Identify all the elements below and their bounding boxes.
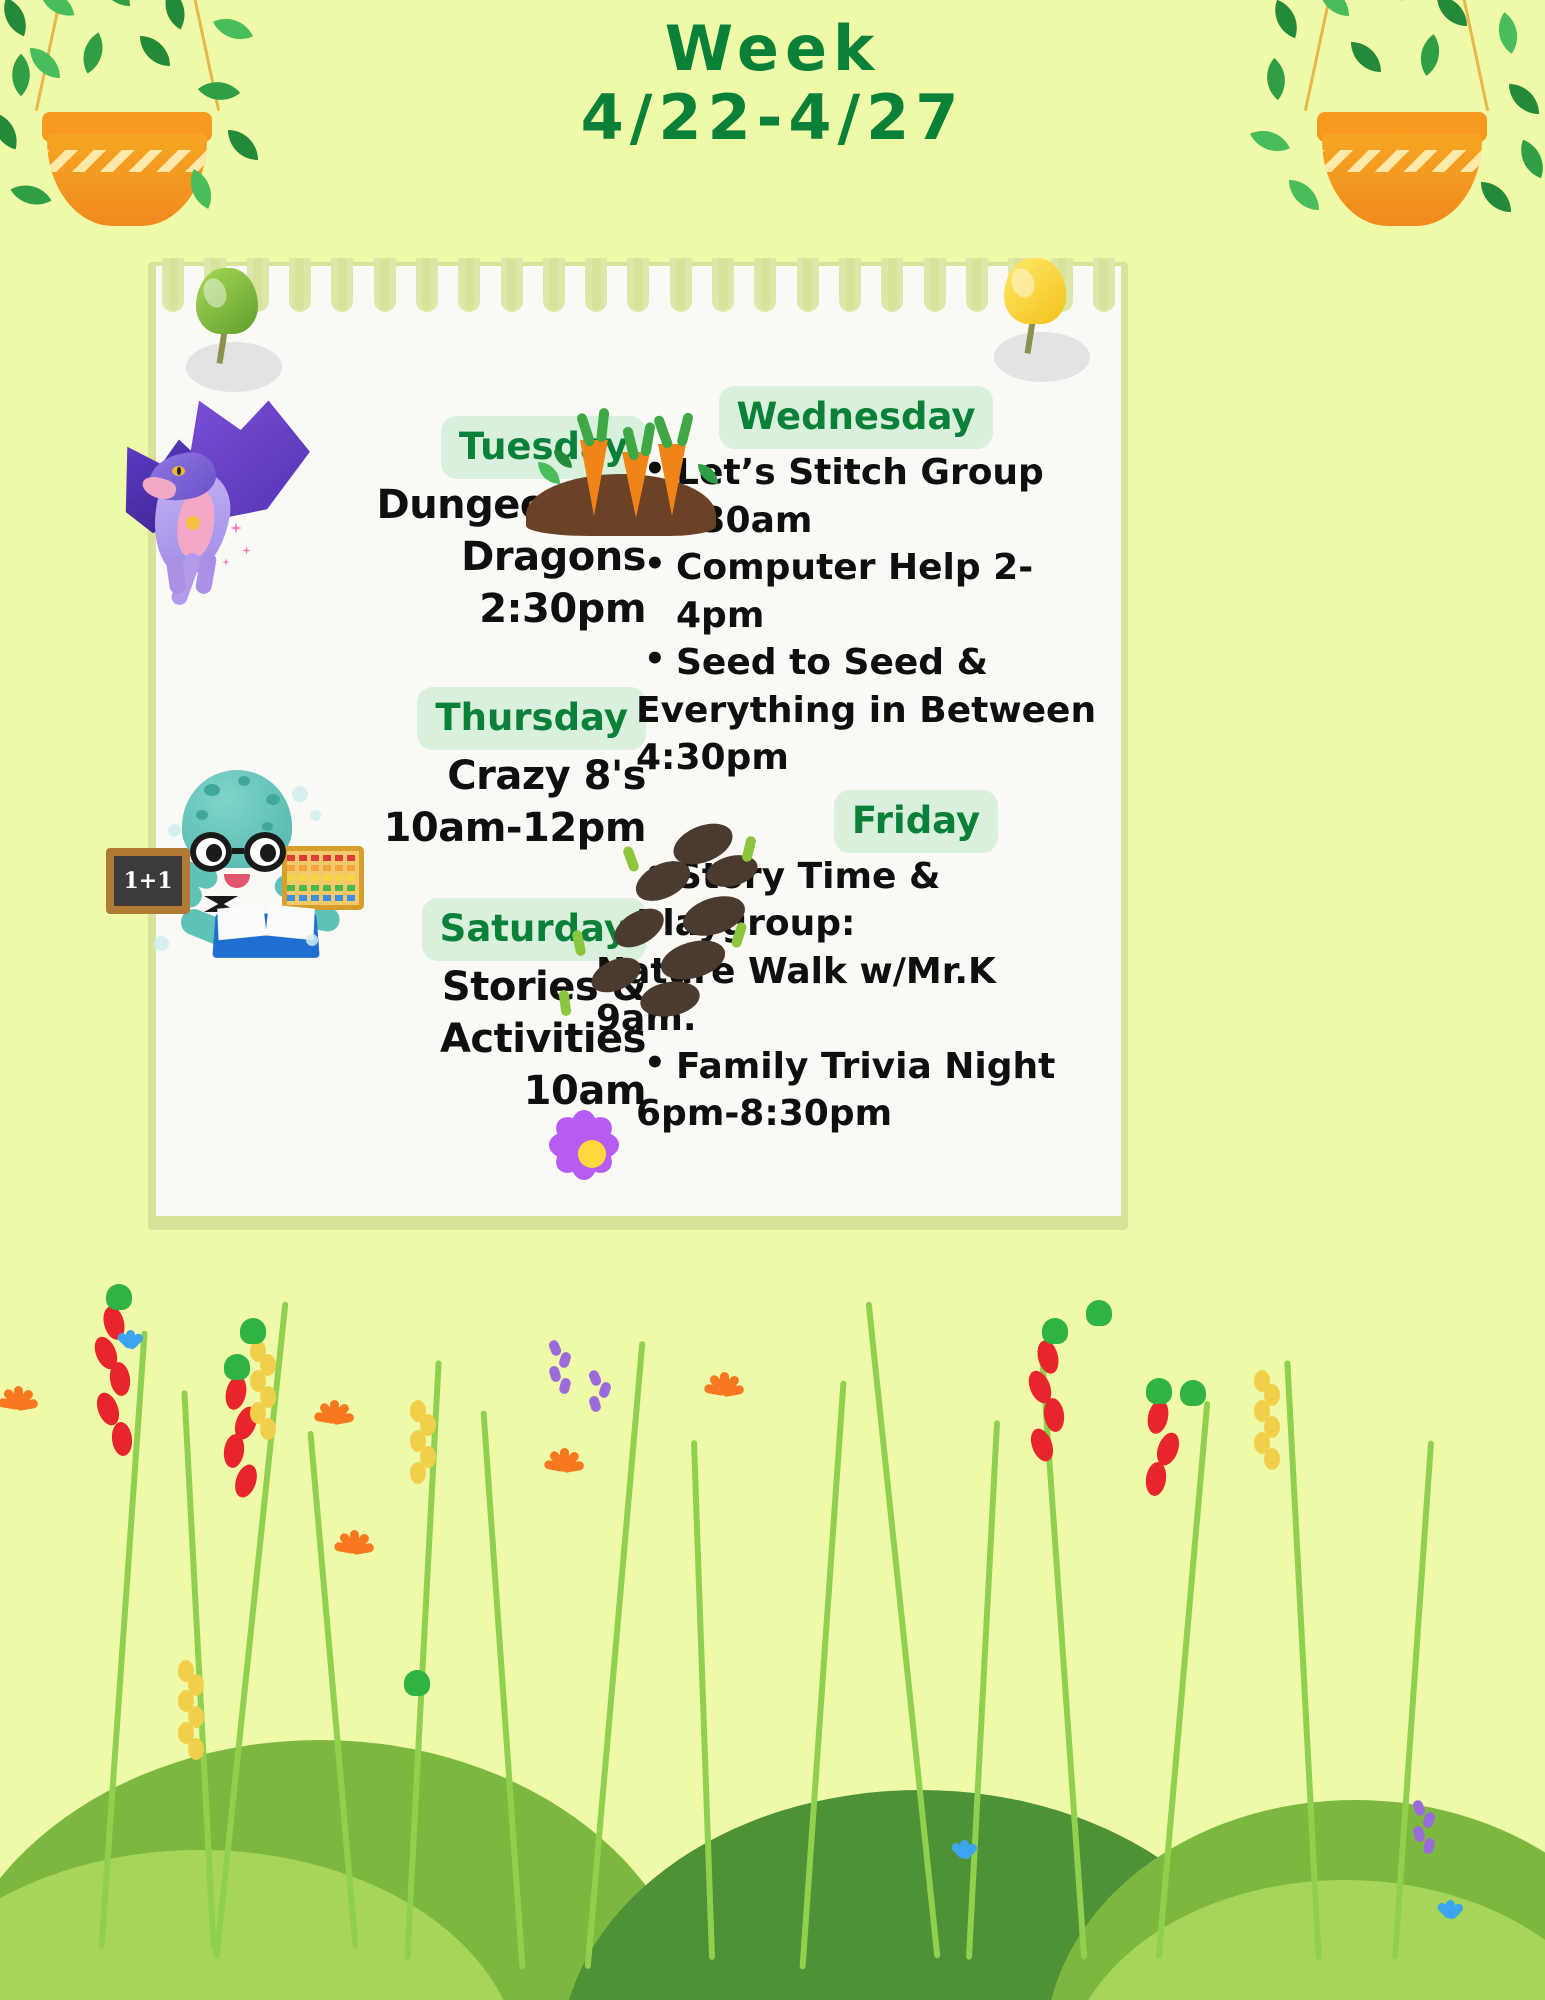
green-bud [404, 1670, 430, 1696]
orange-flower [540, 1448, 588, 1488]
day-heading-thursday: Thursday [417, 687, 646, 750]
pushpin-left-icon [182, 268, 292, 398]
octopus-illustration-icon: 1+1 [96, 766, 346, 966]
green-bud [1086, 1300, 1112, 1326]
wheat-flower [178, 1660, 204, 1770]
day-heading-wednesday: Wednesday [719, 386, 994, 449]
chalkboard-icon: 1+1 [106, 848, 190, 914]
pushpin-right-icon [990, 258, 1100, 388]
purple-daisy-flower [548, 1110, 634, 1196]
wheat-flower [250, 1340, 276, 1450]
green-bud [1180, 1380, 1206, 1406]
lavender-flower [588, 1370, 614, 1426]
abacus-icon [282, 846, 364, 910]
wheat-flower [410, 1400, 436, 1510]
orange-flower [0, 1386, 42, 1426]
list-item: Everything in Between [636, 687, 1106, 735]
list-item: Seed to Seed & [636, 639, 1106, 687]
schedule-content: Tuesday Dungeons & Dragons 2:30pm Thursd… [156, 266, 1121, 1216]
lavender-flower [548, 1340, 574, 1396]
list-item: Computer Help 2-4pm [636, 544, 1106, 639]
wildflower-field [0, 1240, 1545, 2000]
blue-flower [950, 1840, 980, 1874]
poster-title: Week 4/22-4/27 [0, 14, 1545, 153]
title-line-2: 4/22-4/27 [0, 83, 1545, 152]
wheat-flower [1254, 1370, 1280, 1480]
dragon-illustration-icon [126, 396, 336, 596]
poster-canvas: Week 4/22-4/27 Tuesday Dungeons [0, 0, 1545, 2000]
blue-flower [116, 1330, 146, 1364]
carrot-garden-illustration-icon [526, 406, 726, 536]
day-heading-friday: Friday [834, 790, 998, 853]
orange-flower [330, 1530, 378, 1570]
lavender-flower [1412, 1800, 1438, 1856]
green-bud [240, 1318, 266, 1344]
orange-flower [310, 1400, 358, 1440]
blue-flower [1436, 1900, 1466, 1934]
list-item: 4:30pm [636, 734, 1106, 782]
event-line: Activities [266, 1013, 646, 1065]
book-icon [212, 914, 319, 958]
title-line-1: Week [0, 14, 1545, 83]
stone-path-illustration-icon [556, 826, 766, 1016]
list-item: 6pm-8:30pm [636, 1090, 1106, 1138]
orange-flower [700, 1372, 748, 1412]
list-item: Family Trivia Night [636, 1043, 1106, 1091]
